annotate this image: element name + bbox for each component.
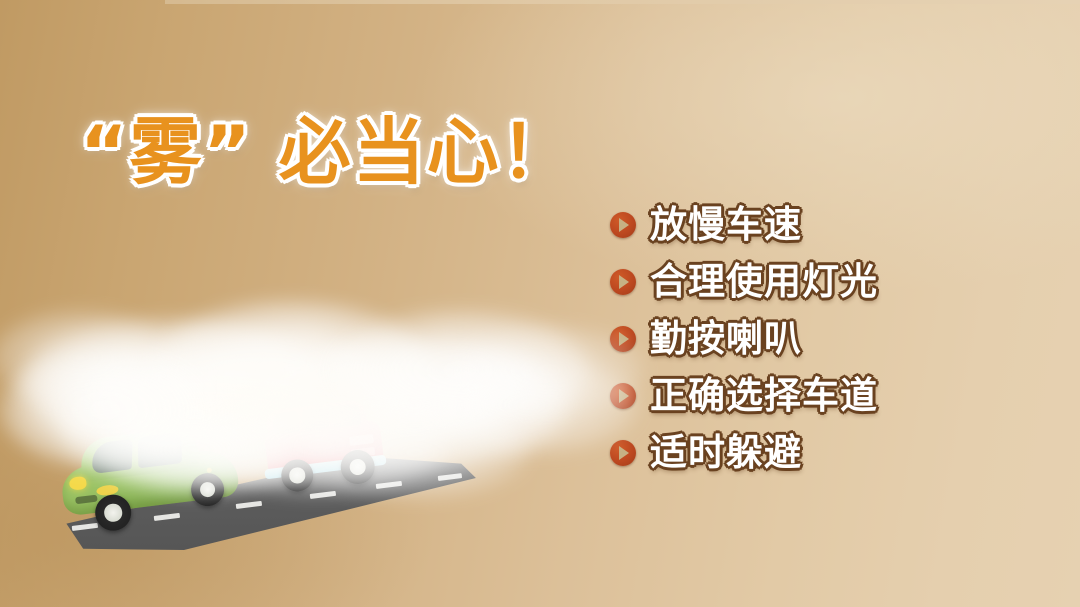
bullet-label: 适时躲避 — [650, 434, 802, 471]
bullet-label: 放慢车速 — [650, 206, 802, 243]
list-item[interactable]: 合理使用灯光 — [610, 253, 1040, 310]
bullet-label: 正确选择车道 — [650, 377, 878, 414]
bullet-list: 放慢车速 合理使用灯光 勤按喇叭 正确选择车道 适时躲避 — [610, 196, 1040, 481]
red-van — [257, 397, 391, 497]
illustration-two-cars-on-foggy-road — [0, 300, 620, 580]
lane-dash — [438, 473, 462, 481]
title-quoted-word: “雾” — [80, 110, 253, 194]
list-item[interactable]: 勤按喇叭 — [610, 310, 1040, 367]
red-van-windshield — [272, 411, 300, 435]
list-item[interactable]: 适时躲避 — [610, 424, 1040, 481]
lane-dash — [310, 491, 336, 499]
top-accent-strip — [165, 0, 1080, 4]
red-van-rear-window — [331, 403, 361, 427]
bullet-label: 勤按喇叭 — [650, 320, 802, 357]
list-item[interactable]: 正确选择车道 — [610, 367, 1040, 424]
play-triangle-circle-icon — [610, 212, 636, 238]
fog-puff — [420, 355, 640, 455]
list-item[interactable]: 放慢车速 — [610, 196, 1040, 253]
bullet-label: 合理使用灯光 — [650, 263, 878, 300]
play-triangle-circle-icon — [610, 269, 636, 295]
fog-puff — [455, 325, 645, 415]
slide-canvas: “雾”必当心！ 放慢车速 合理使用灯光 勤按喇叭 正确选择车道 适时躲避 — [0, 0, 1080, 607]
green-car-side-window — [138, 432, 182, 469]
page-title: “雾”必当心！ — [80, 116, 575, 188]
fog-puff — [0, 310, 170, 405]
title-rest: 必当心！ — [279, 110, 575, 194]
red-van-side-window — [301, 407, 329, 431]
